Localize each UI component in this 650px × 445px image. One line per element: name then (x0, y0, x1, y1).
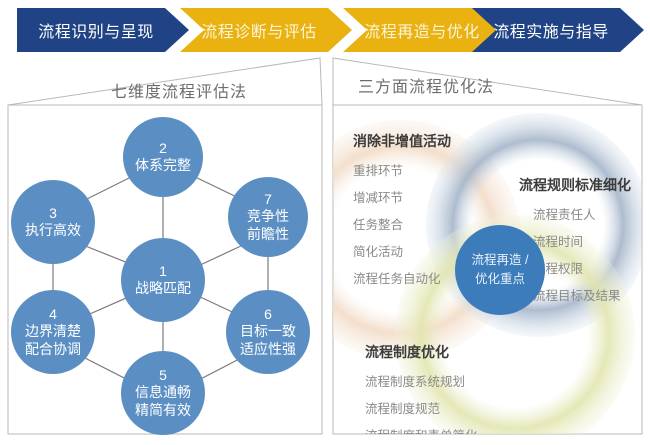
step-chevron-1[interactable]: 流程识别与呈现 (17, 8, 189, 52)
right-panel-title: 三方面流程优化法 (358, 73, 494, 97)
group-eliminate-non-value: 消除非增值活动 重排环节 增减环节 任务整合 简化活动 流程任务自动化 (353, 131, 451, 295)
core-focus-circle[interactable]: 流程再造 / 优化重点 (455, 225, 545, 315)
node-2-label-1: 体系完整 (135, 157, 191, 174)
three-aspect-diagram: 消除非增值活动 重排环节 增减环节 任务整合 简化活动 流程任务自动化 流程规则… (333, 105, 642, 434)
core-focus-line-2: 优化重点 (475, 270, 525, 289)
group-eliminate-item-1: 重排环节 (353, 160, 451, 179)
node-6-label-2: 适应性强 (240, 341, 296, 358)
step-chevron-2[interactable]: 流程诊断与评估 (180, 8, 352, 52)
step-chevron-3-label: 流程再造与优化 (364, 18, 494, 42)
group-rules-heading: 流程规则标准细化 (519, 175, 631, 195)
node-4-label-1: 边界清楚 (25, 323, 81, 340)
node-5[interactable]: 5 信息通畅 精简有效 (121, 351, 205, 435)
step-chevron-2-label: 流程诊断与评估 (201, 18, 331, 42)
node-1-label-1: 战略匹配 (135, 280, 191, 297)
node-3-label-1: 执行高效 (25, 222, 81, 239)
group-system-item-2: 流程制度规范 (365, 398, 478, 417)
step-chevron-1-label: 流程识别与呈现 (38, 18, 168, 42)
step-chevron-4-label: 流程实施与指导 (493, 18, 623, 42)
node-3[interactable]: 3 执行高效 (11, 180, 95, 264)
group-rules-item-2: 流程时间 (533, 231, 631, 250)
group-eliminate-item-3: 任务整合 (353, 214, 451, 233)
group-system-item-3: 流程制度和表单简化 (365, 425, 478, 434)
node-6-label-1: 目标一致 (240, 323, 296, 340)
seven-dimension-diagram: 2 体系完整 3 执行高效 7 竞争性 前瞻性 1 战略匹配 4 边界清楚 配合… (8, 105, 322, 434)
group-eliminate-item-5: 流程任务自动化 (353, 268, 451, 287)
left-panel-title: 七维度流程评估法 (111, 78, 247, 102)
group-rules-item-1: 流程责任人 (533, 204, 631, 223)
group-eliminate-item-4: 简化活动 (353, 241, 451, 260)
core-focus-line-1: 流程再造 / (472, 251, 529, 270)
group-rules-item-3: 流程权限 (533, 258, 631, 277)
node-5-label-2: 精简有效 (135, 402, 191, 419)
node-5-number: 5 (159, 367, 167, 384)
node-7[interactable]: 7 竞争性 前瞻性 (228, 177, 308, 257)
slide-root: 流程识别与呈现 流程诊断与评估 流程再造与优化 流程实施与指导 七维度流程评估法… (0, 0, 650, 445)
node-7-number: 7 (264, 191, 272, 208)
group-system-heading: 流程制度优化 (365, 342, 478, 362)
node-7-label-1: 竞争性 (247, 208, 289, 225)
node-4-number: 4 (49, 306, 57, 323)
node-1-number: 1 (159, 263, 167, 280)
node-7-label-2: 前瞻性 (247, 226, 289, 243)
group-system-item-1: 流程制度系统规划 (365, 371, 478, 390)
step-chevron-4[interactable]: 流程实施与指导 (472, 8, 644, 52)
node-5-label-1: 信息通畅 (135, 384, 191, 401)
group-rules-item-4: 流程目标及结果 (533, 285, 631, 304)
node-2-number: 2 (159, 140, 167, 157)
node-4[interactable]: 4 边界清楚 配合协调 (11, 290, 95, 374)
node-4-label-2: 配合协调 (25, 341, 81, 358)
group-eliminate-item-2: 增减环节 (353, 187, 451, 206)
group-eliminate-heading: 消除非增值活动 (353, 131, 451, 151)
node-6-number: 6 (264, 306, 272, 323)
node-2[interactable]: 2 体系完整 (123, 117, 203, 197)
node-3-number: 3 (49, 205, 57, 222)
group-system-optimization: 流程制度优化 流程制度系统规划 流程制度规范 流程制度和表单简化 (365, 342, 478, 434)
node-1[interactable]: 1 战略匹配 (121, 238, 205, 322)
process-steps-banner: 流程识别与呈现 流程诊断与评估 流程再造与优化 流程实施与指导 (0, 0, 650, 58)
node-6[interactable]: 6 目标一致 适应性强 (226, 290, 310, 374)
